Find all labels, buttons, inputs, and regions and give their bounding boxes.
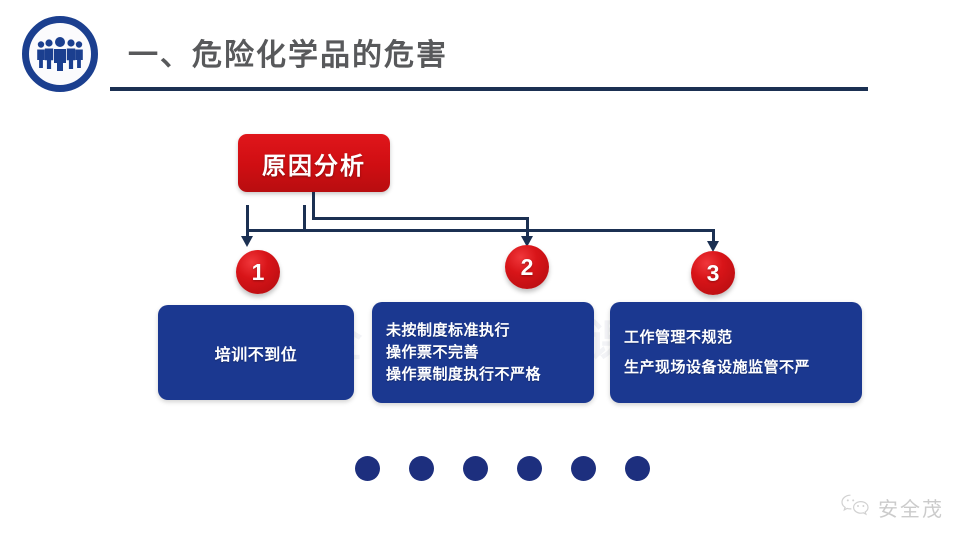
page-title: 一、危险化学品的危害 xyxy=(128,30,448,74)
branch-box-2-line-1: 未按制度标准执行 xyxy=(386,320,594,342)
branch-box-1-line-1: 培训不到位 xyxy=(215,341,298,365)
decorative-dot xyxy=(409,456,434,481)
decorative-dot xyxy=(517,456,542,481)
decorative-dot xyxy=(571,456,596,481)
people-group-circle-icon xyxy=(22,16,98,92)
branch-box-3-line-1: 工作管理不规范 xyxy=(624,323,862,353)
cause-analysis-label: 原因分析 xyxy=(262,146,366,181)
watermark-text: 安全茂 xyxy=(878,493,944,522)
decorative-dot xyxy=(463,456,488,481)
connector-bar-lower xyxy=(246,229,714,232)
branch-badge-2-number: 2 xyxy=(521,256,534,279)
cause-analysis-node[interactable]: 原因分析 xyxy=(238,134,390,192)
branch-box-3[interactable]: 工作管理不规范 生产现场设备设施监管不严 xyxy=(610,302,862,403)
branch-box-2-line-2: 操作票不完善 xyxy=(386,342,594,364)
connector-stem xyxy=(312,192,315,220)
branch-badge-1[interactable]: 1 xyxy=(236,250,280,294)
branch-badge-3[interactable]: 3 xyxy=(691,251,735,295)
branch-badge-3-number: 3 xyxy=(707,262,720,285)
connector-left-tick xyxy=(246,205,249,232)
connector-bar-upper xyxy=(312,217,527,220)
decorative-dots-row xyxy=(355,456,650,481)
corner-watermark: 安全茂 xyxy=(840,493,944,522)
wechat-icon xyxy=(840,493,870,522)
arrow-head-1 xyxy=(241,236,253,247)
decorative-dot xyxy=(625,456,650,481)
header-divider xyxy=(110,87,868,91)
connector-stem-drop xyxy=(303,205,306,232)
branch-badge-1-number: 1 xyxy=(252,261,265,284)
branch-box-2-line-3: 操作票制度执行不严格 xyxy=(386,364,594,386)
branch-box-1[interactable]: 培训不到位 xyxy=(158,305,354,400)
slide-canvas: 安全生产培训课件 一、危险化学品的危害 xyxy=(0,0,960,540)
branch-badge-2[interactable]: 2 xyxy=(505,245,549,289)
branch-box-3-line-2: 生产现场设备设施监管不严 xyxy=(624,353,862,383)
decorative-dot xyxy=(355,456,380,481)
branch-box-2[interactable]: 未按制度标准执行 操作票不完善 操作票制度执行不严格 xyxy=(372,302,594,403)
